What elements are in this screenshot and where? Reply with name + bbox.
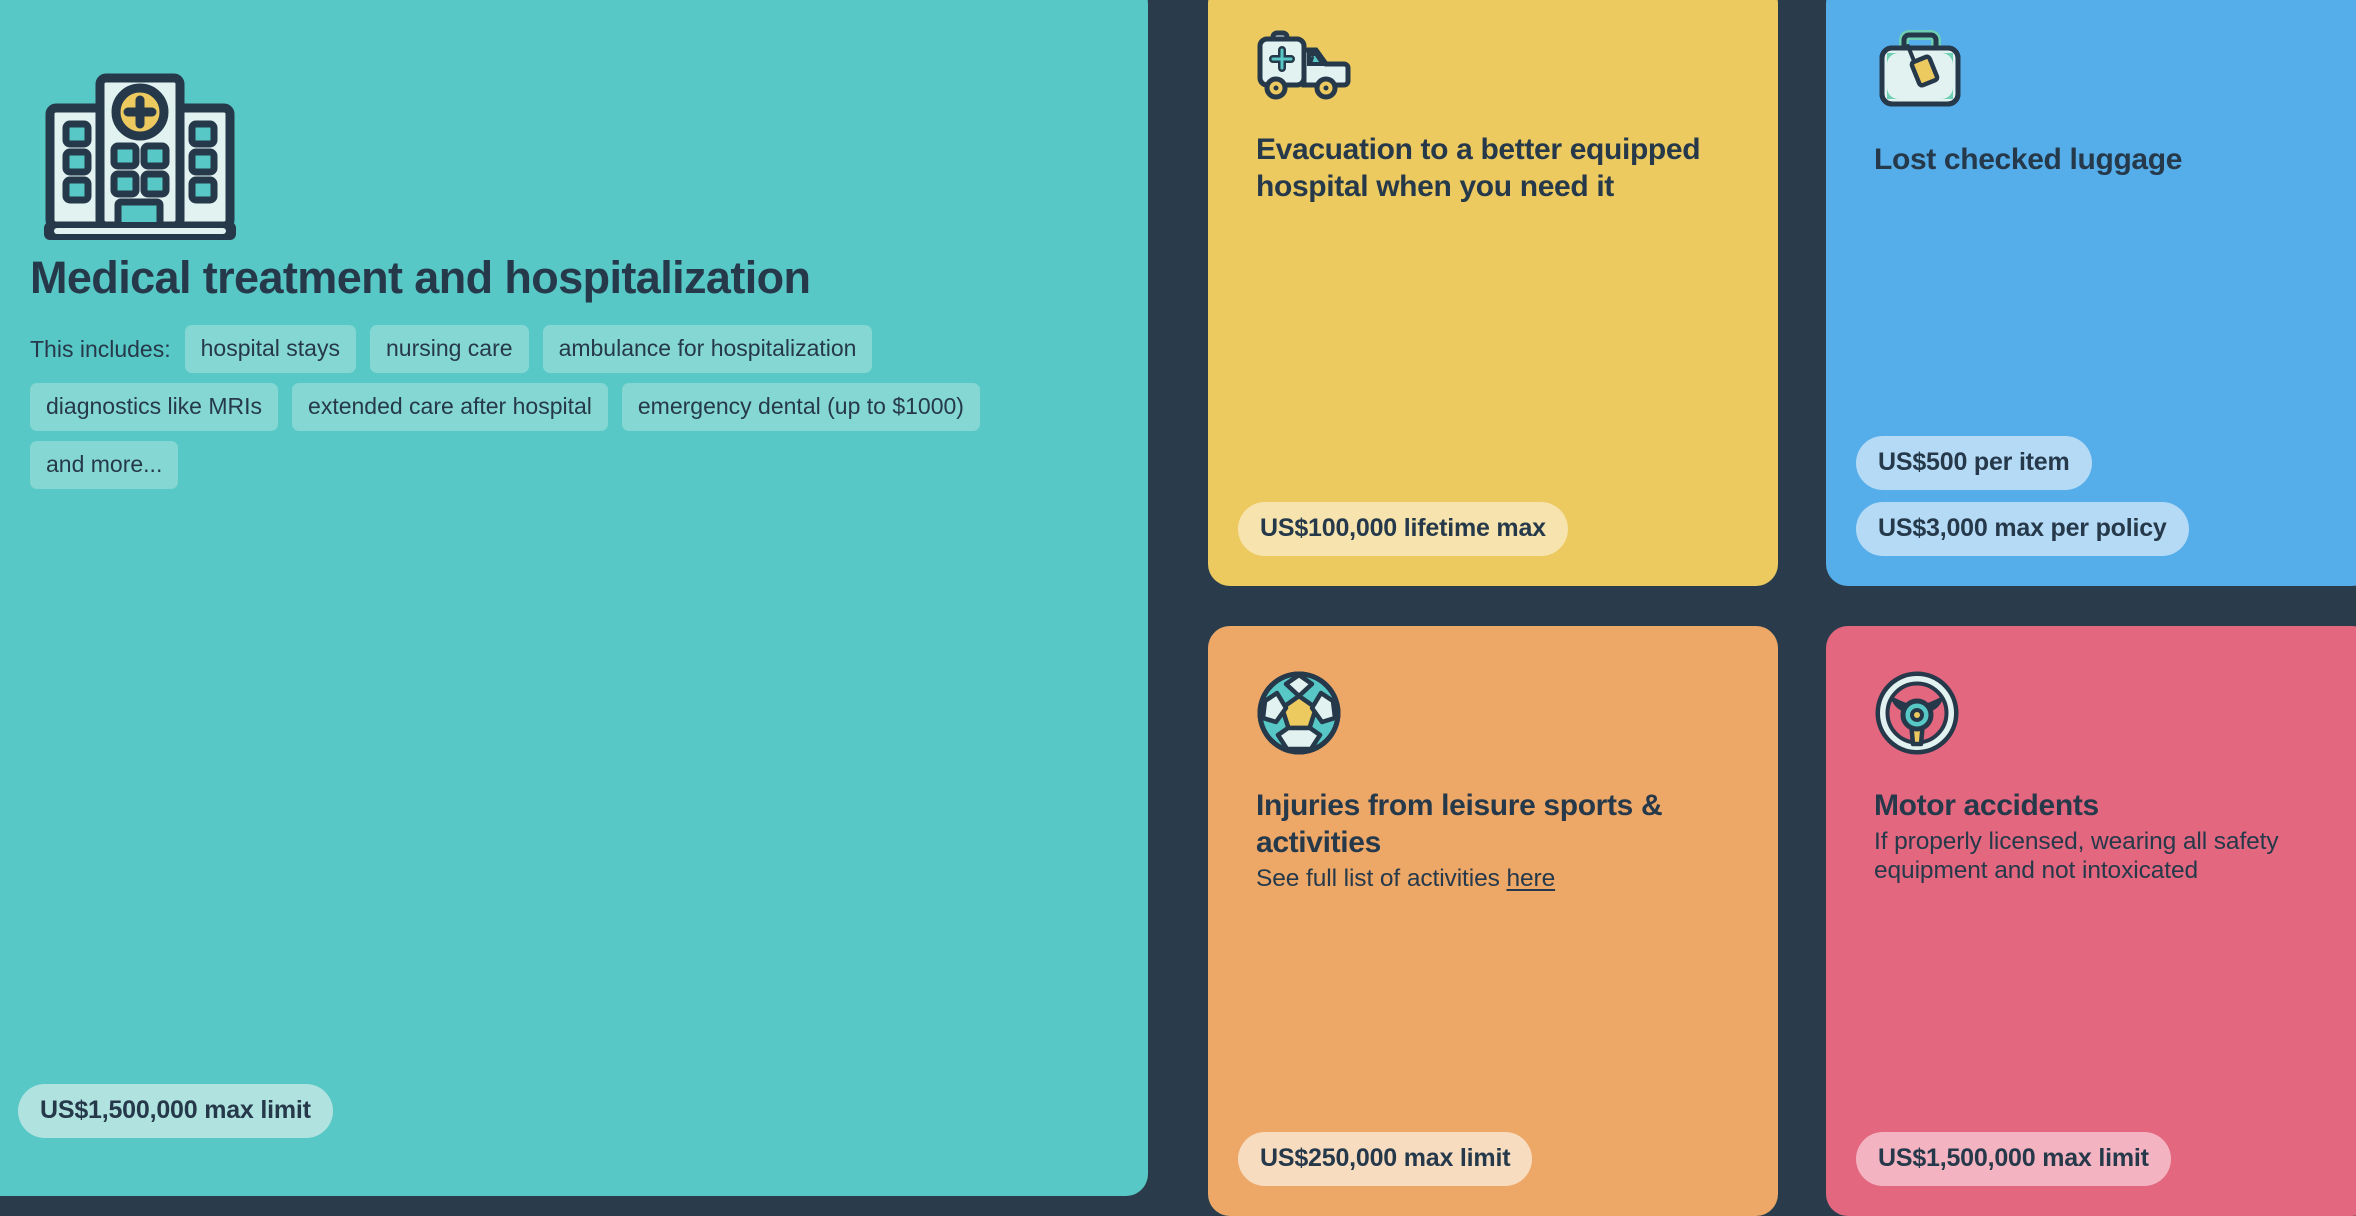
include-tag[interactable]: emergency dental (up to $1000) [622,383,980,431]
status-badge: US$250,000 max limit [1238,1132,1532,1186]
card-subtitle-text: See full list of activities [1256,865,1506,892]
limit-badges: US$1,500,000 max limit [18,1084,333,1138]
card-lost-luggage[interactable]: Lost checked luggage US$500 per item US$… [1826,0,2356,586]
ambulance-icon [1256,26,1730,105]
page-title: Medical treatment and hospitalization [18,253,1108,303]
card-title: Evacuation to a better equipped hospital… [1256,131,1730,205]
card-title: Motor accidents [1874,787,2326,824]
include-tag[interactable]: nursing care [370,325,529,373]
include-tag[interactable]: ambulance for hospitalization [543,325,873,373]
suitcase-icon [1874,26,2326,115]
status-badge: US$1,500,000 max limit [1856,1132,2171,1186]
status-badge: US$3,000 max per policy [1856,502,2189,556]
activities-list-link[interactable]: here [1506,865,1555,892]
include-tag[interactable]: extended care after hospital [292,383,608,431]
limit-badges: US$500 per item US$3,000 max per policy [1856,436,2189,556]
card-medical-treatment[interactable]: Medical treatment and hospitalization Th… [0,0,1148,1196]
soccer-ball-icon [1256,670,1730,761]
include-tag[interactable]: hospital stays [185,325,356,373]
card-evacuation[interactable]: Evacuation to a better equipped hospital… [1208,0,1778,586]
card-subtitle: See full list of activities here [1256,865,1730,894]
includes-tag-cloud: This includes: hospital stays nursing ca… [18,325,1030,489]
limit-badges: US$100,000 lifetime max [1238,502,1568,556]
benefits-card-grid: Medical treatment and hospitalization Th… [0,0,2356,1196]
steering-wheel-icon [1874,670,2326,761]
card-title: Lost checked luggage [1874,141,2326,178]
hospital-icon [42,66,1108,247]
card-subtitle: If properly licensed, wearing all safety… [1874,828,2326,885]
includes-label: This includes: [30,338,171,361]
status-badge: US$500 per item [1856,436,2092,490]
limit-badges: US$250,000 max limit [1238,1132,1532,1186]
card-motor-accidents[interactable]: Motor accidents If properly licensed, we… [1826,626,2356,1216]
limit-badges: US$1,500,000 max limit [1856,1132,2171,1186]
status-badge: US$1,500,000 max limit [18,1084,333,1138]
include-tag[interactable]: and more... [30,441,178,489]
status-badge: US$100,000 lifetime max [1238,502,1568,556]
card-leisure-sports[interactable]: Injuries from leisure sports & activitie… [1208,626,1778,1216]
card-title: Injuries from leisure sports & activitie… [1256,787,1730,861]
include-tag[interactable]: diagnostics like MRIs [30,383,278,431]
